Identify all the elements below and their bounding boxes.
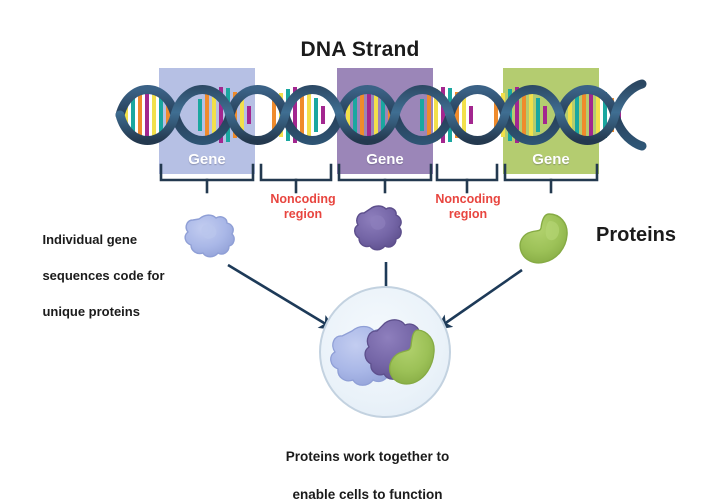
gene-label-3: Gene (503, 151, 599, 168)
cell (320, 287, 450, 417)
left-caption-line2: sequences code for (42, 268, 164, 283)
arrow-green-to-cell (437, 270, 522, 329)
gene-label-2: Gene (337, 151, 433, 168)
bracket-noncoding-2 (437, 165, 497, 192)
noncoding-label-2-line2: region (449, 207, 487, 221)
page-title: DNA Strand (0, 38, 720, 62)
noncoding-label-1-line1: Noncoding (270, 192, 335, 206)
bracket-noncoding-1 (261, 165, 331, 192)
noncoding-region-label-2: Noncoding region (408, 192, 528, 222)
bottom-caption: Proteins work together to enable cells t… (250, 428, 470, 503)
left-caption-line3: unique proteins (42, 304, 140, 319)
protein-blue (185, 215, 234, 257)
proteins-label: Proteins (596, 224, 676, 247)
arrow-blue-to-cell (228, 265, 334, 329)
dna-gene-protein-diagram: DNA Strand Gene Gene Gene Noncoding regi… (0, 0, 720, 503)
noncoding-label-2-line1: Noncoding (435, 192, 500, 206)
left-caption: Individual gene sequences code for uniqu… (28, 213, 188, 339)
gene-label-1: Gene (159, 151, 255, 168)
noncoding-region-label-1: Noncoding region (243, 192, 363, 222)
noncoding-label-1-line2: region (284, 207, 322, 221)
bottom-caption-line2: enable cells to function (292, 487, 442, 502)
left-caption-line1: Individual gene (42, 232, 137, 247)
bottom-caption-line1: Proteins work together to (286, 449, 450, 464)
